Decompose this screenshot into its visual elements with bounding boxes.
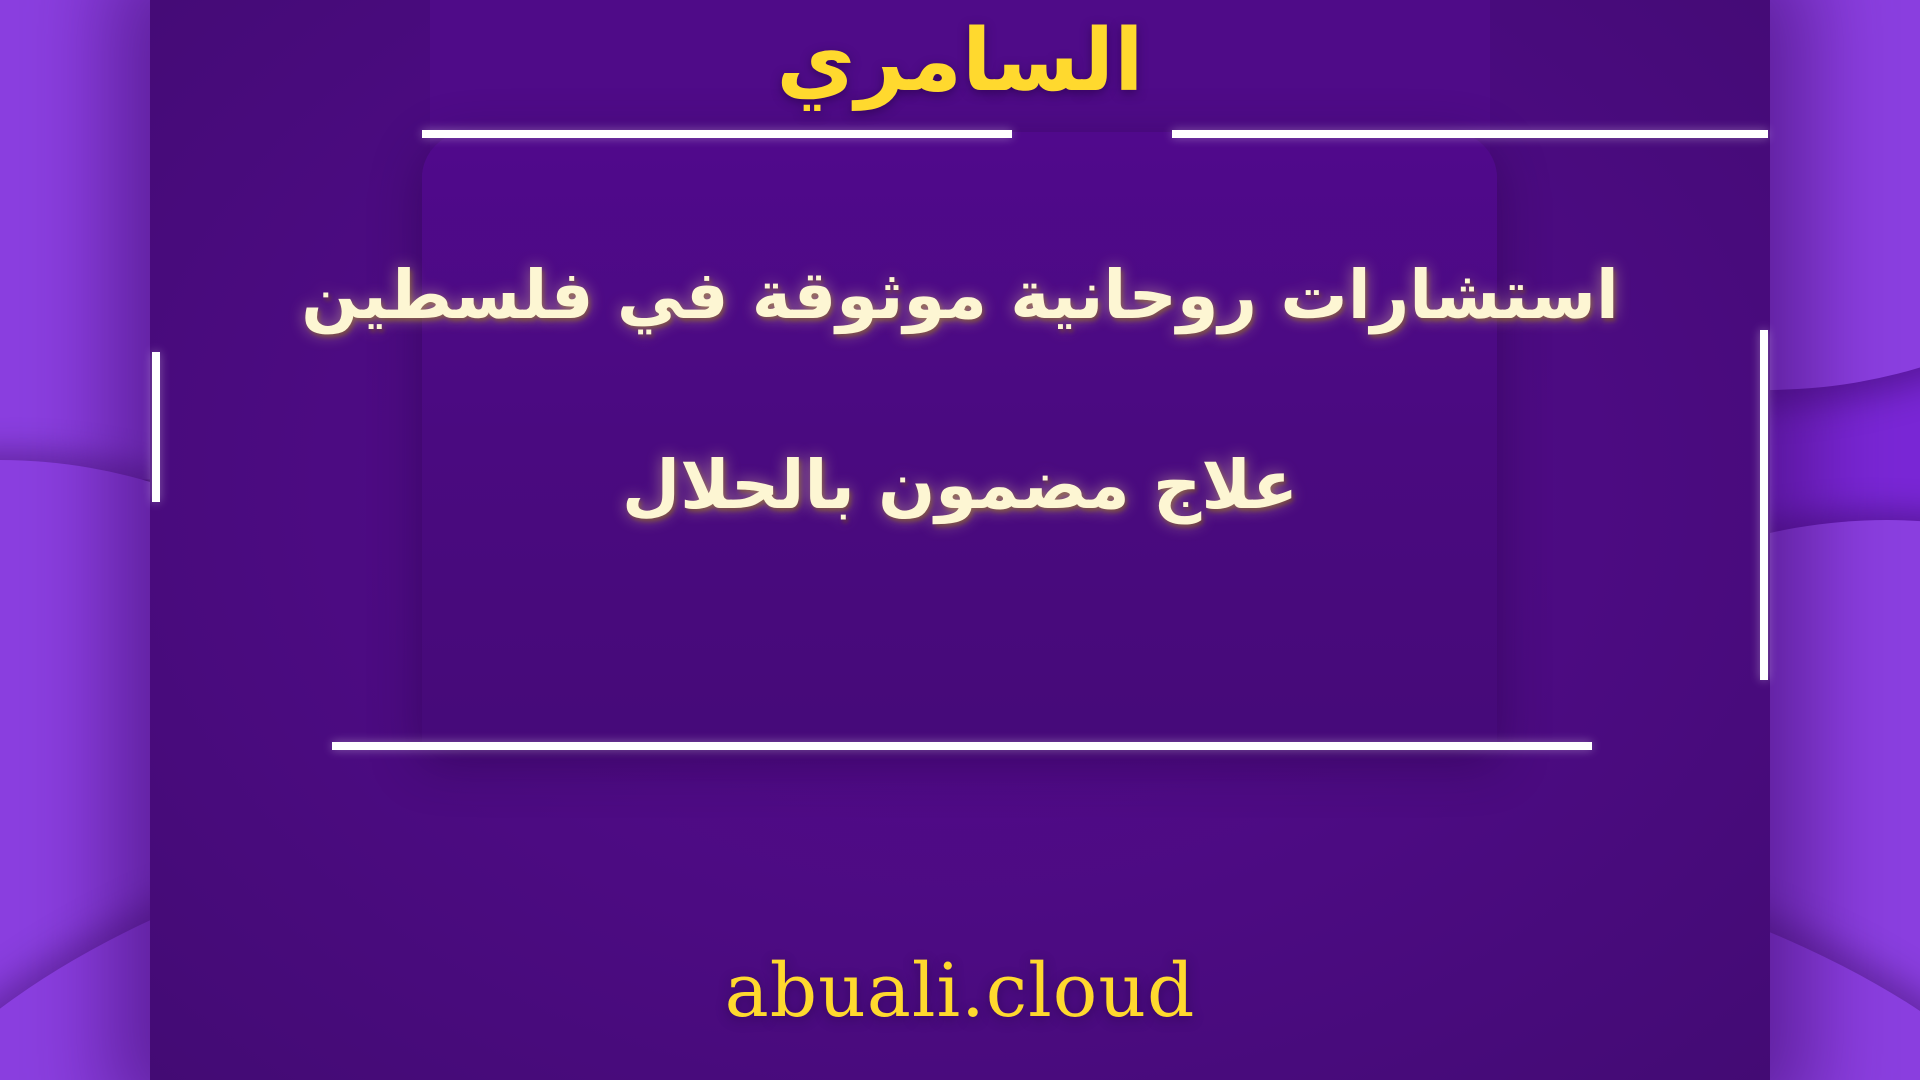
- headline-group: استشارات روحانية موثوقة في فلسطين علاج م…: [160, 250, 1760, 531]
- headline-primary: استشارات روحانية موثوقة في فلسطين: [160, 250, 1760, 340]
- headline-secondary: علاج مضمون بالحلال: [160, 440, 1760, 530]
- brand-title: السامري: [0, 14, 1920, 109]
- promo-banner: السامري استشارات روحانية موثوقة في فلسطي…: [0, 0, 1920, 1080]
- site-url[interactable]: abuali.cloud: [0, 948, 1920, 1034]
